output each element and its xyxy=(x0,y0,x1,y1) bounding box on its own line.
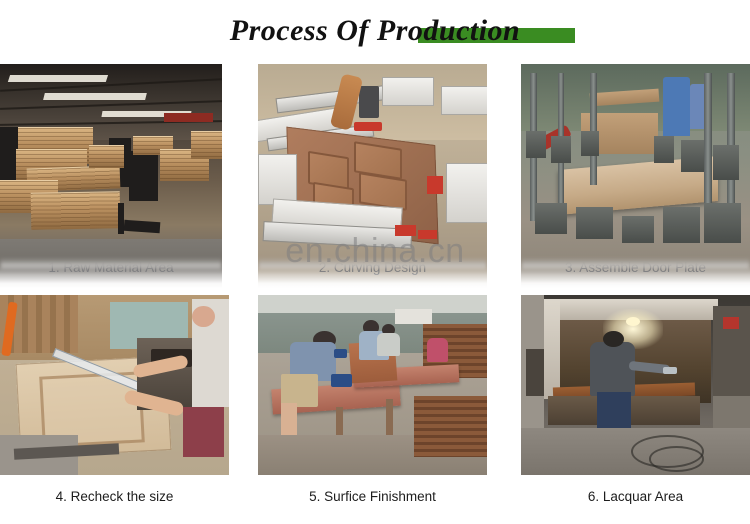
page-title-text: Process Of Production xyxy=(230,14,521,47)
step-3-image xyxy=(521,64,750,288)
process-step-4: 4. Recheck the size xyxy=(0,295,229,524)
step-6-image xyxy=(521,295,750,475)
step-5-image xyxy=(258,295,487,475)
step-3-caption: 3. Assemble Door Plate xyxy=(521,260,750,275)
step-6-caption: 6. Lacquar Area xyxy=(521,489,750,504)
step-5-caption: 5. Surfice Finishment xyxy=(258,489,487,504)
step-2-image xyxy=(258,64,487,288)
step-4-image xyxy=(0,295,229,475)
page-title: Process Of Production xyxy=(0,8,750,54)
step-4-caption: 4. Recheck the size xyxy=(0,489,229,504)
production-process-banner: Process Of Production xyxy=(0,0,750,524)
step-2-caption: 2. Curving Design xyxy=(258,260,487,275)
process-step-1: 1. Raw Material Area xyxy=(0,64,222,288)
process-step-3: 3. Assemble Door Plate xyxy=(521,64,750,288)
process-step-5: 5. Surfice Finishment xyxy=(258,295,487,524)
process-step-grid: 1. Raw Material Area xyxy=(0,56,750,524)
process-step-2: 2. Curving Design xyxy=(258,64,487,288)
process-step-6: 6. Lacquar Area xyxy=(521,295,750,524)
step-1-image xyxy=(0,64,222,288)
step-1-caption: 1. Raw Material Area xyxy=(0,260,222,275)
